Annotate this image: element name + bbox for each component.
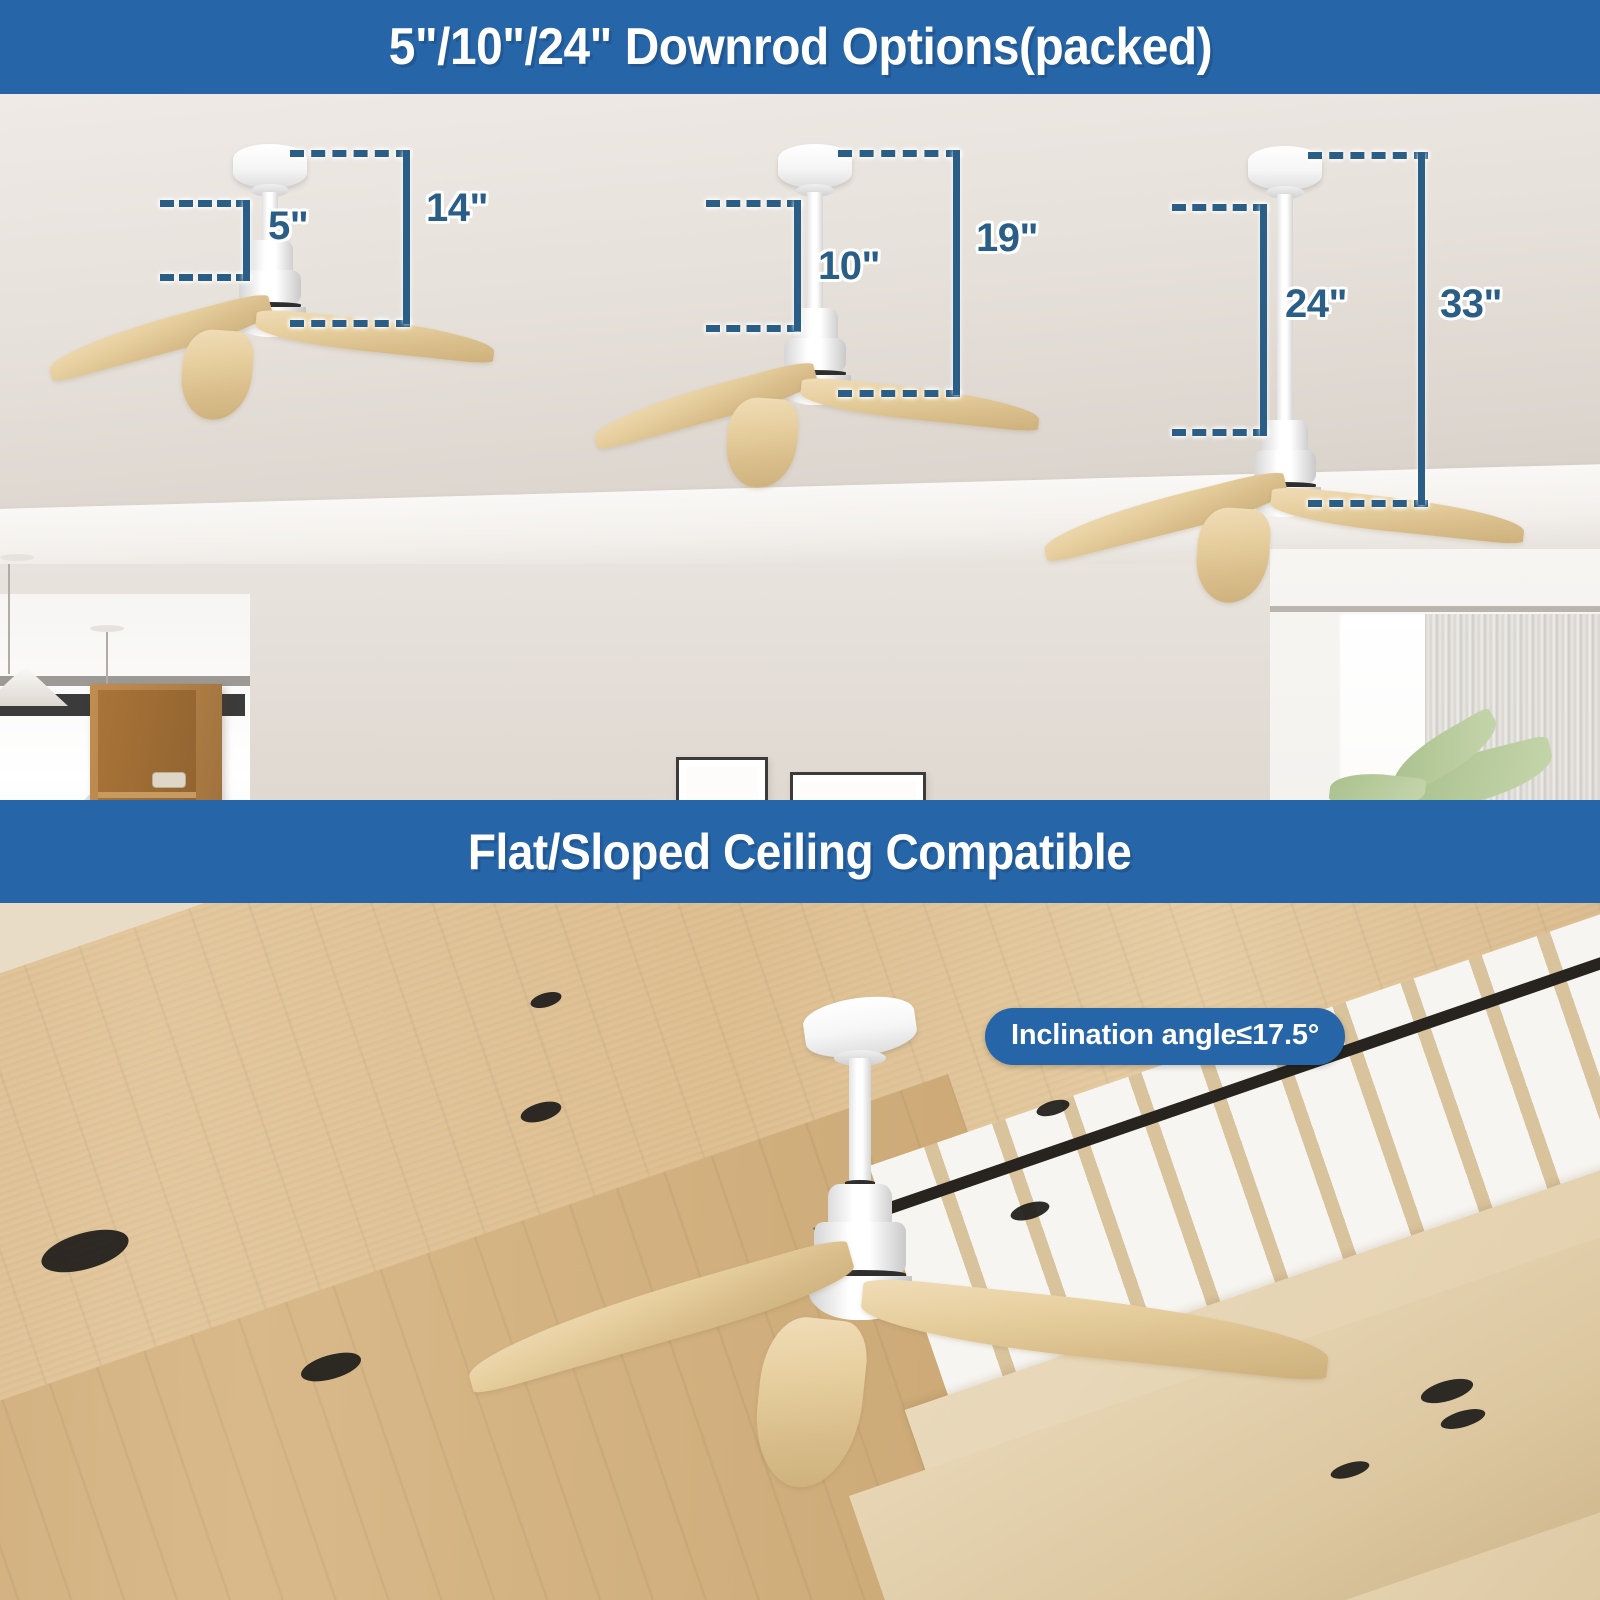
fan-canopy — [233, 144, 307, 188]
pendant-disc-mid — [90, 625, 124, 632]
fan-downrod — [262, 192, 278, 244]
flat-ceiling-scene: 14" 5" 19" 10" 33" 24" — [0, 94, 1600, 800]
banner-ceiling-compatible: Flat/Sloped Ceiling Compatible — [0, 800, 1600, 903]
fan-downrod — [849, 1058, 871, 1186]
art-mat — [800, 782, 916, 800]
sloped-ceiling-scene: Inclination angle≤17.5° — [0, 903, 1600, 1600]
fan-motor-top — [1262, 420, 1308, 454]
pendant-cord-left — [8, 564, 10, 674]
curtain-rod — [1270, 606, 1600, 612]
framed-art-center — [676, 757, 768, 800]
product-infographic: 5"/10"/24" Downrod Options(packed) — [0, 0, 1600, 1600]
banner-top-text: 5"/10"/24" Downrod Options(packed) — [388, 17, 1211, 77]
fan-canopy — [1248, 146, 1322, 190]
inclination-angle-badge: Inclination angle≤17.5° — [985, 1008, 1345, 1065]
wooden-shelf-unit — [90, 684, 222, 800]
fan-canopy — [778, 144, 852, 188]
indoor-plant — [1295, 696, 1545, 800]
shelf-bowl — [152, 772, 186, 788]
fan-downrod — [1277, 194, 1293, 424]
art-mat — [686, 767, 758, 800]
banner-downrod-options: 5"/10"/24" Downrod Options(packed) — [0, 0, 1600, 94]
fan-motor-top — [247, 240, 293, 274]
pendant-disc-left — [0, 554, 34, 561]
fan-motor-top — [792, 308, 838, 342]
banner-mid-text: Flat/Sloped Ceiling Compatible — [468, 823, 1131, 881]
shelf-divider — [98, 792, 196, 798]
fan-downrod — [807, 192, 823, 312]
framed-art-right — [790, 772, 926, 800]
